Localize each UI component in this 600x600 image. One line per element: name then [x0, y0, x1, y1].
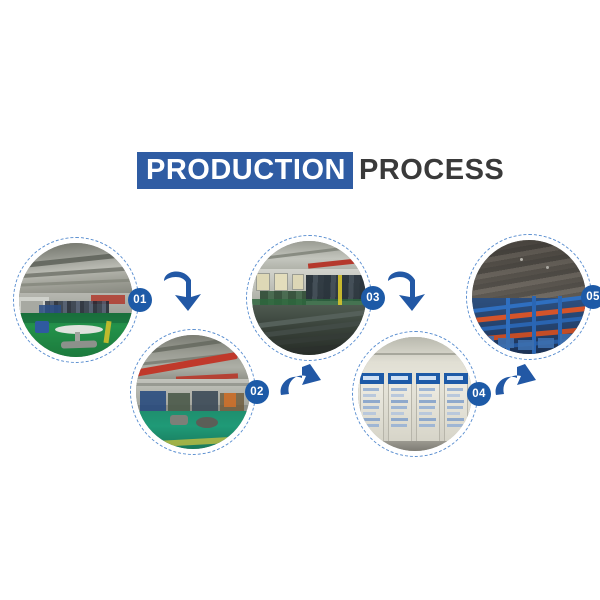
step-badge-01: 01: [128, 288, 152, 312]
step-card-02[interactable]: 02: [130, 329, 260, 459]
page-title: PRODUCTION PROCESS: [137, 150, 504, 190]
step-photo-04: [358, 337, 472, 451]
step-photo-02: [136, 335, 250, 449]
step-photo-05: [472, 240, 586, 354]
step-photo-03: [252, 241, 366, 355]
arrow-01-to-02-icon: [158, 264, 210, 316]
step-card-01[interactable]: 01: [13, 237, 143, 367]
step-card-04[interactable]: 04: [352, 331, 482, 461]
step-badge-05: 05: [581, 285, 600, 309]
production-process-infographic: PRODUCTION PROCESS: [0, 0, 600, 600]
step-badge-04: 04: [467, 382, 491, 406]
step-badge-03: 03: [361, 286, 385, 310]
step-card-05[interactable]: 05: [466, 234, 596, 364]
arrow-03-to-04-icon: [382, 264, 434, 316]
step-photo-01: [19, 243, 133, 357]
page-title-highlight: PRODUCTION: [137, 152, 353, 189]
step-badge-02: 02: [245, 380, 269, 404]
page-title-rest: PROCESS: [353, 157, 504, 183]
